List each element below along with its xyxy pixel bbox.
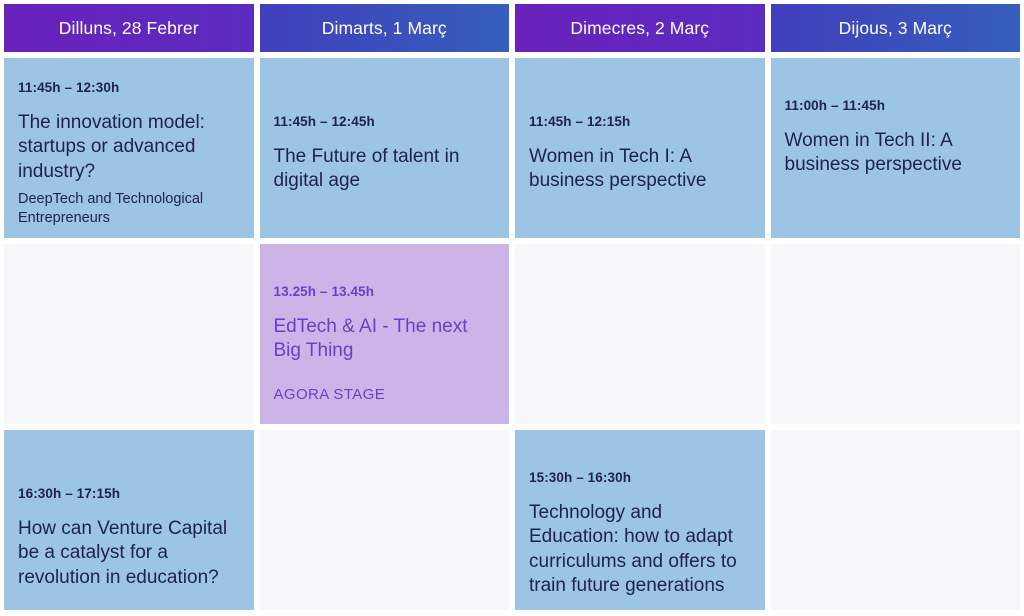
empty-slot — [771, 244, 1021, 424]
day-header-3[interactable]: Dijous, 3 Març — [771, 4, 1021, 52]
session-time: 16:30h – 17:15h — [18, 486, 240, 501]
session-time: 11:00h – 11:45h — [785, 98, 1007, 113]
session-time: 11:45h – 12:45h — [274, 114, 496, 129]
session-card[interactable]: 11:00h – 11:45h Women in Tech II: A busi… — [771, 58, 1021, 238]
session-card[interactable]: 13.25h – 13.45h EdTech & AI - The next B… — [260, 244, 510, 424]
session-subtitle: DeepTech and Technological Entrepreneurs — [18, 190, 240, 228]
session-title: EdTech & AI - The next Big Thing — [274, 315, 496, 364]
empty-slot — [771, 430, 1021, 610]
day-header-label: Dimecres, 2 Març — [570, 18, 709, 39]
session-card[interactable]: 16:30h – 17:15h How can Venture Capital … — [4, 430, 254, 610]
empty-slot — [515, 244, 765, 424]
day-header-1[interactable]: Dimarts, 1 Març — [260, 4, 510, 52]
schedule-body: 11:45h – 12:30h The innovation model: st… — [4, 58, 1020, 610]
session-title: Technology and Education: how to adapt c… — [529, 501, 751, 598]
day-header-2[interactable]: Dimecres, 2 Març — [515, 4, 765, 52]
schedule-header-row: Dilluns, 28 Febrer Dimarts, 1 Març Dimec… — [4, 4, 1020, 52]
session-title: The Future of talent in digital age — [274, 145, 496, 194]
schedule-grid: Dilluns, 28 Febrer Dimarts, 1 Març Dimec… — [0, 0, 1024, 616]
day-header-label: Dijous, 3 Març — [839, 18, 952, 39]
session-card[interactable]: 11:45h – 12:15h Women in Tech I: A busin… — [515, 58, 765, 238]
session-card[interactable]: 15:30h – 16:30h Technology and Education… — [515, 430, 765, 610]
empty-slot — [4, 244, 254, 424]
session-time: 15:30h – 16:30h — [529, 470, 751, 485]
session-title: Women in Tech I: A business perspective — [529, 145, 751, 194]
empty-slot — [260, 430, 510, 610]
day-header-label: Dilluns, 28 Febrer — [59, 18, 199, 39]
day-header-label: Dimarts, 1 Març — [322, 18, 447, 39]
session-title: The innovation model: startups or advanc… — [18, 111, 240, 184]
session-time: 11:45h – 12:15h — [529, 114, 751, 129]
session-title: How can Venture Capital be a catalyst fo… — [18, 517, 240, 590]
session-time: 13.25h – 13.45h — [274, 284, 496, 299]
session-card[interactable]: 11:45h – 12:45h The Future of talent in … — [260, 58, 510, 238]
session-card[interactable]: 11:45h – 12:30h The innovation model: st… — [4, 58, 254, 238]
session-title: Women in Tech II: A business perspective — [785, 129, 1007, 178]
day-header-0[interactable]: Dilluns, 28 Febrer — [4, 4, 254, 52]
session-venue: AGORA STAGE — [274, 386, 496, 403]
session-time: 11:45h – 12:30h — [18, 80, 240, 95]
